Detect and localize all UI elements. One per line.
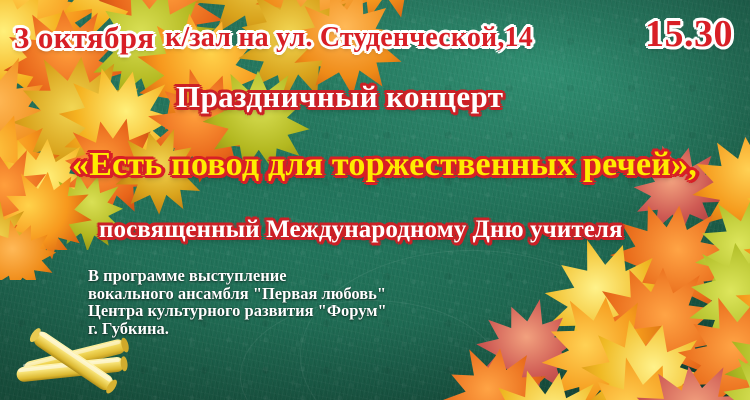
event-subtitle: посвященный Международному Дню учителя <box>99 216 623 244</box>
program-details: В программе выступление вокального ансам… <box>88 267 387 337</box>
event-poster: 3 октября к/зал на ул. Студенческой,14 1… <box>0 0 750 400</box>
event-type-heading: Праздничный концерт <box>176 79 503 115</box>
event-time: 15.30 <box>645 12 733 56</box>
program-line: В программе выступление <box>88 267 387 285</box>
program-line: Центра культурного развития "Форум" <box>88 302 387 320</box>
event-venue: к/зал на ул. Студенческой,14 <box>165 22 533 54</box>
program-line: вокального ансамбля "Первая любовь" <box>88 285 387 303</box>
program-line: г. Губкина. <box>88 320 387 338</box>
event-date: 3 октября <box>14 20 154 56</box>
page-title: «Есть повод для торжественных речей», <box>72 146 697 184</box>
